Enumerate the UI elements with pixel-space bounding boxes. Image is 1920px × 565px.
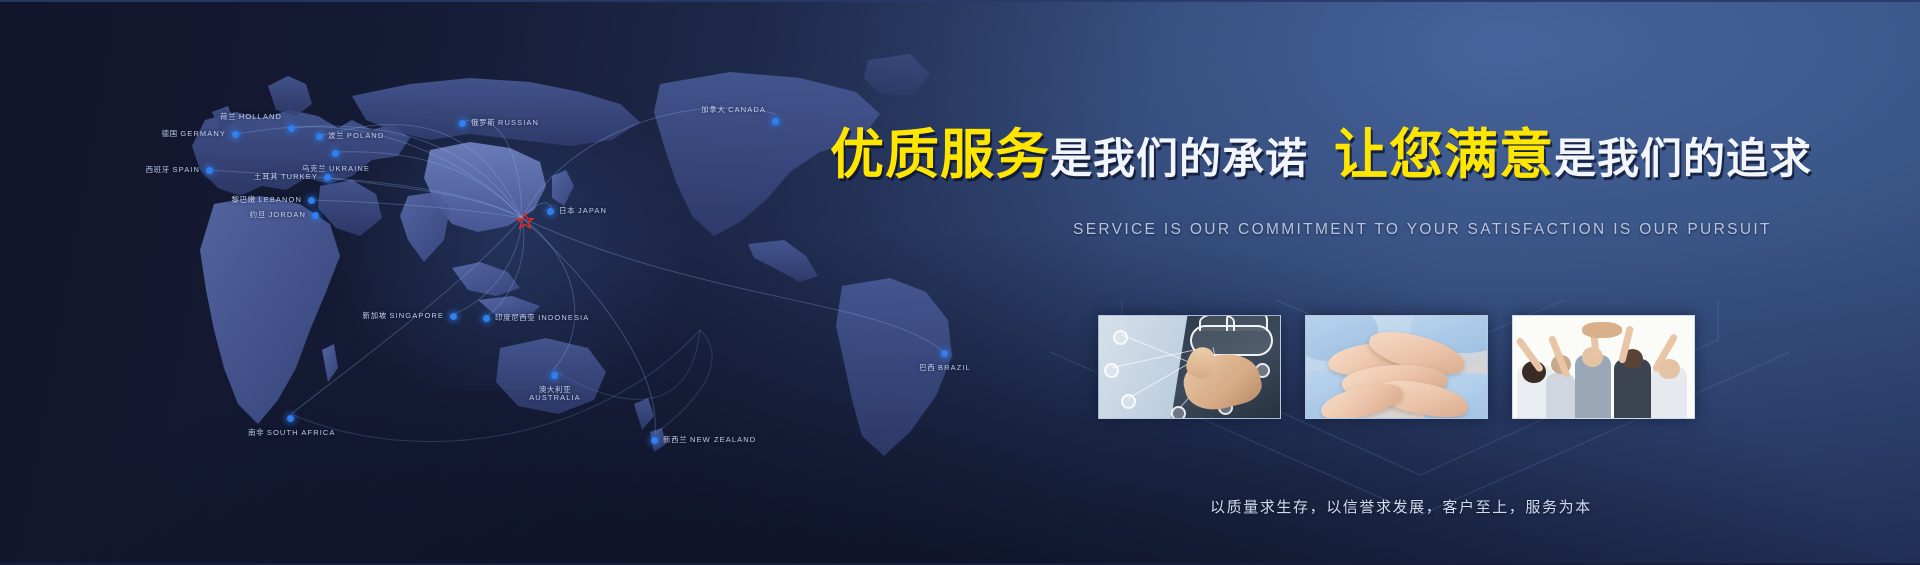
map-dot-indonesia — [483, 315, 490, 322]
tagline: 以质量求生存，以信誉求发展，客户至上，服务为本 — [1210, 496, 1592, 517]
map-label-russian: 俄罗斯 RUSSIAN — [471, 119, 539, 127]
map-label-lebanon: 黎巴嫩 LEBANON — [231, 196, 302, 204]
person-body — [1546, 373, 1575, 418]
map-dot-jordan — [312, 212, 319, 219]
headline-part-4: 是我们的追求 — [1554, 135, 1812, 182]
map-dot-singapore — [450, 313, 457, 320]
photo-strip: 手指触摸云端网络图标 团队叠手合作 — [1098, 315, 1695, 419]
world-map-svg — [0, 0, 1030, 565]
map-dot-brazil — [941, 350, 948, 357]
map-label-canada: 加拿大 CANADA — [701, 106, 766, 114]
map-dot-south-africa — [287, 415, 294, 422]
promo-banner: 荷兰 HOLLAND 德国 GERMANY 波兰 POLAND 俄罗斯 RUSS… — [0, 0, 1920, 565]
team-highfive-photo[interactable]: 团队击掌庆祝 — [1512, 315, 1695, 419]
map-dot-germany — [232, 131, 239, 138]
headline-part-3: 让您满意 — [1334, 125, 1554, 185]
map-dot-japan — [547, 208, 554, 215]
map-label-brazil: 巴西 BRAZIL — [919, 364, 971, 372]
map-dot-turkey — [324, 174, 331, 181]
map-label-holland: 荷兰 HOLLAND — [220, 113, 282, 121]
map-label-spain: 西班牙 SPAIN — [146, 166, 200, 174]
map-dot-poland — [316, 133, 323, 140]
map-dot-spain — [206, 167, 213, 174]
high-five-hands — [1582, 322, 1622, 338]
network-node-icon — [1113, 330, 1128, 345]
map-label-australia: 澳大利亚AUSTRALIA — [529, 386, 581, 401]
map-label-turkey: 土耳其 TURKEY — [254, 173, 318, 181]
map-label-new-zealand: 新西兰 NEW ZEALAND — [663, 436, 756, 444]
map-dot-holland — [288, 125, 295, 132]
cloud-touch-photo[interactable]: 手指触摸云端网络图标 — [1098, 315, 1281, 419]
map-dot-ukraine — [332, 150, 339, 157]
map-dot-australia — [551, 372, 558, 379]
map-label-germany: 德国 GERMANY — [161, 130, 226, 138]
subtitle-english: SERVICE IS OUR COMMITMENT TO YOUR SATISF… — [1073, 221, 1772, 239]
map-label-japan: 日本 JAPAN — [559, 207, 607, 215]
headline: 优质服务是我们的承诺让您满意是我们的追求 — [830, 128, 1812, 182]
map-dot-russian — [459, 120, 466, 127]
map-dot-new-zealand — [651, 437, 658, 444]
map-label-south-africa: 南非 SOUTH AFRICA — [248, 429, 336, 437]
map-dot-lebanon — [308, 197, 315, 204]
headline-part-1: 优质服务 — [830, 125, 1050, 185]
stacked-hands-photo[interactable]: 团队叠手合作 — [1305, 315, 1488, 419]
map-dot-canada — [772, 118, 779, 125]
map-label-singapore: 新加坡 SINGAPORE — [363, 312, 444, 320]
map-label-indonesia: 印度尼西亚 INDONESIA — [495, 314, 589, 322]
headline-part-2: 是我们的承诺 — [1050, 135, 1308, 182]
map-label-poland: 波兰 POLAND — [328, 132, 384, 140]
world-map: 荷兰 HOLLAND 德国 GERMANY 波兰 POLAND 俄罗斯 RUSS… — [0, 0, 1030, 565]
map-label-jordan: 约旦 JORDAN — [250, 211, 306, 219]
